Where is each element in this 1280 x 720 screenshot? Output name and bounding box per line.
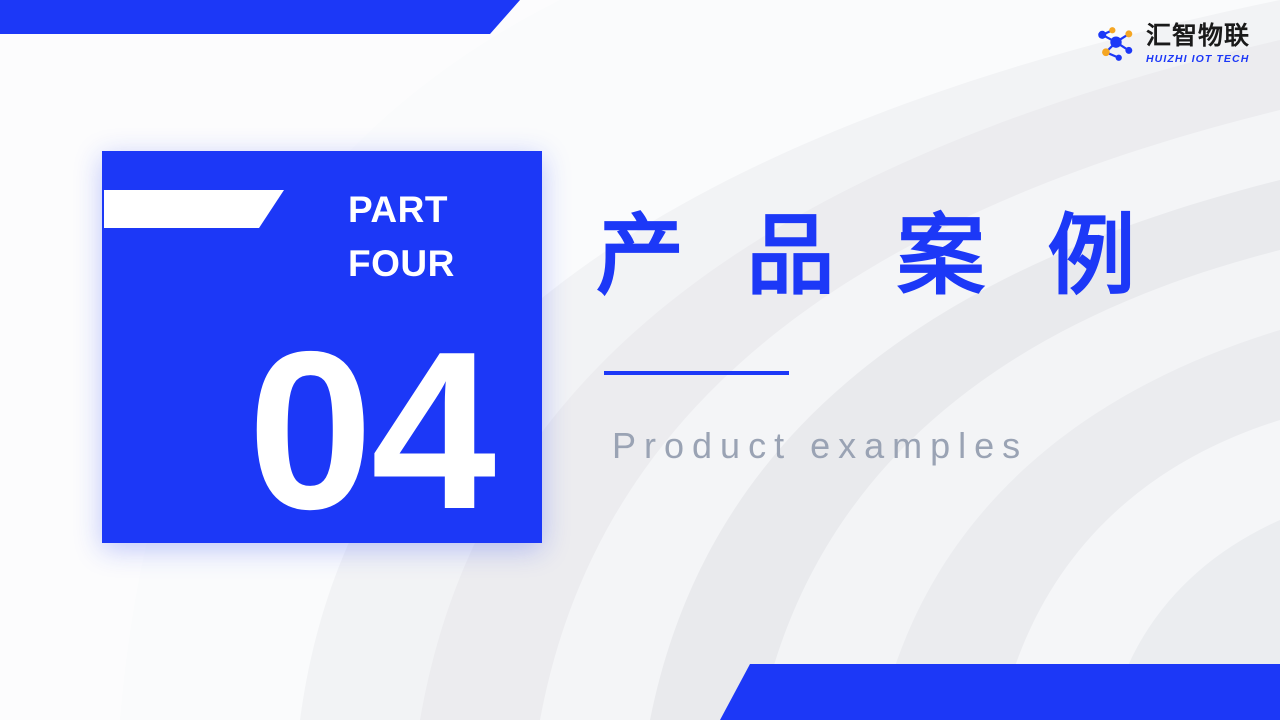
part-label-line-2: FOUR [348, 237, 455, 291]
title-underline-rule [604, 371, 789, 375]
molecule-network-icon [1094, 22, 1138, 66]
section-number: 04 [200, 318, 542, 543]
top-left-accent-bar [0, 0, 520, 34]
page-title-cn: 产 品 案 例 [596, 208, 1154, 305]
white-dash-accent [104, 190, 284, 228]
page-subtitle-en: Product examples [612, 425, 1028, 467]
part-label: PART FOUR [348, 183, 455, 292]
part-label-line-1: PART [348, 183, 455, 237]
logo-wordmark: 汇智物联 HUIZHI IOT TECH [1146, 24, 1250, 65]
brand-logo: 汇智物联 HUIZHI IOT TECH [1094, 22, 1250, 66]
bottom-right-accent-bar [720, 664, 1280, 720]
logo-name-cn: 汇智物联 [1146, 24, 1250, 49]
logo-name-en: HUIZHI IOT TECH [1146, 54, 1250, 65]
slide-canvas: 汇智物联 HUIZHI IOT TECH PART FOUR 04 产 品 案 … [0, 0, 1280, 720]
